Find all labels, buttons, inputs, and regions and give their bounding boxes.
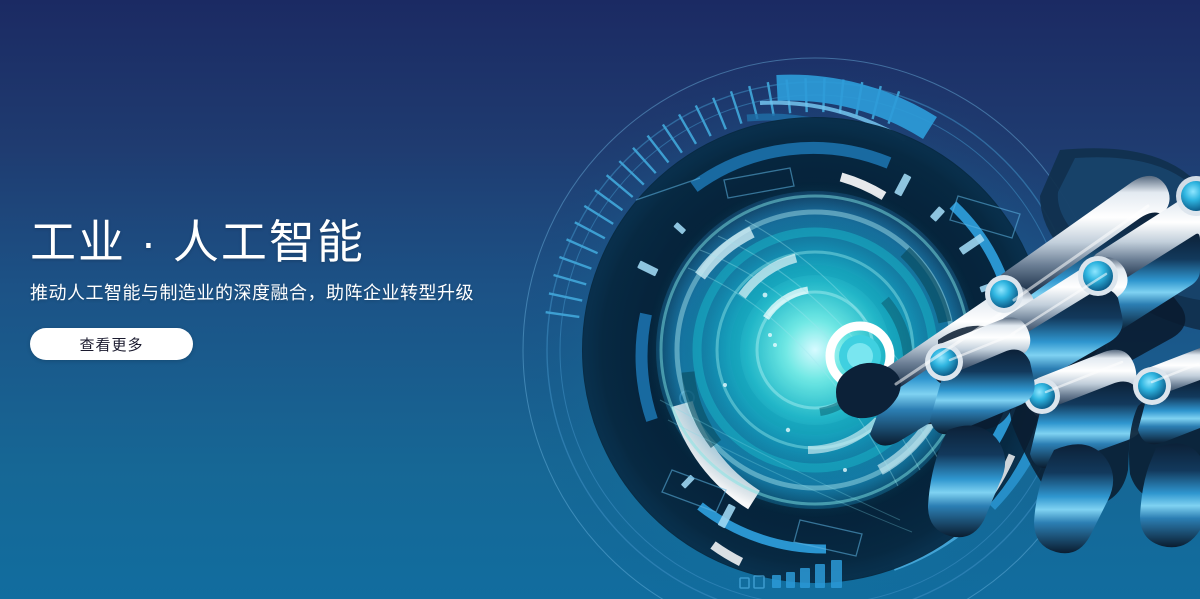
- finger-ring: [1006, 350, 1145, 554]
- hero-subtitle: 推动人工智能与制造业的深度融合，助阵企业转型升级: [30, 280, 590, 306]
- finger-little: [1129, 348, 1200, 547]
- hud-dot-column: [617, 284, 643, 402]
- finger-middle: [988, 190, 1200, 406]
- hero-banner: 工业 · 人工智能 推动人工智能与制造业的深度融合，助阵企业转型升级 查看更多: [0, 0, 1200, 599]
- finger-thumb: [925, 318, 1035, 538]
- view-more-button[interactable]: 查看更多: [30, 328, 193, 360]
- finger-index: [836, 176, 1173, 446]
- robotic-hand-graphic: [836, 148, 1200, 553]
- page-title: 工业 · 人工智能: [30, 214, 590, 270]
- hud-tick-marks: [546, 78, 899, 317]
- hero-copy-block: 工业 · 人工智能 推动人工智能与制造业的深度融合，助阵企业转型升级 查看更多: [30, 214, 590, 360]
